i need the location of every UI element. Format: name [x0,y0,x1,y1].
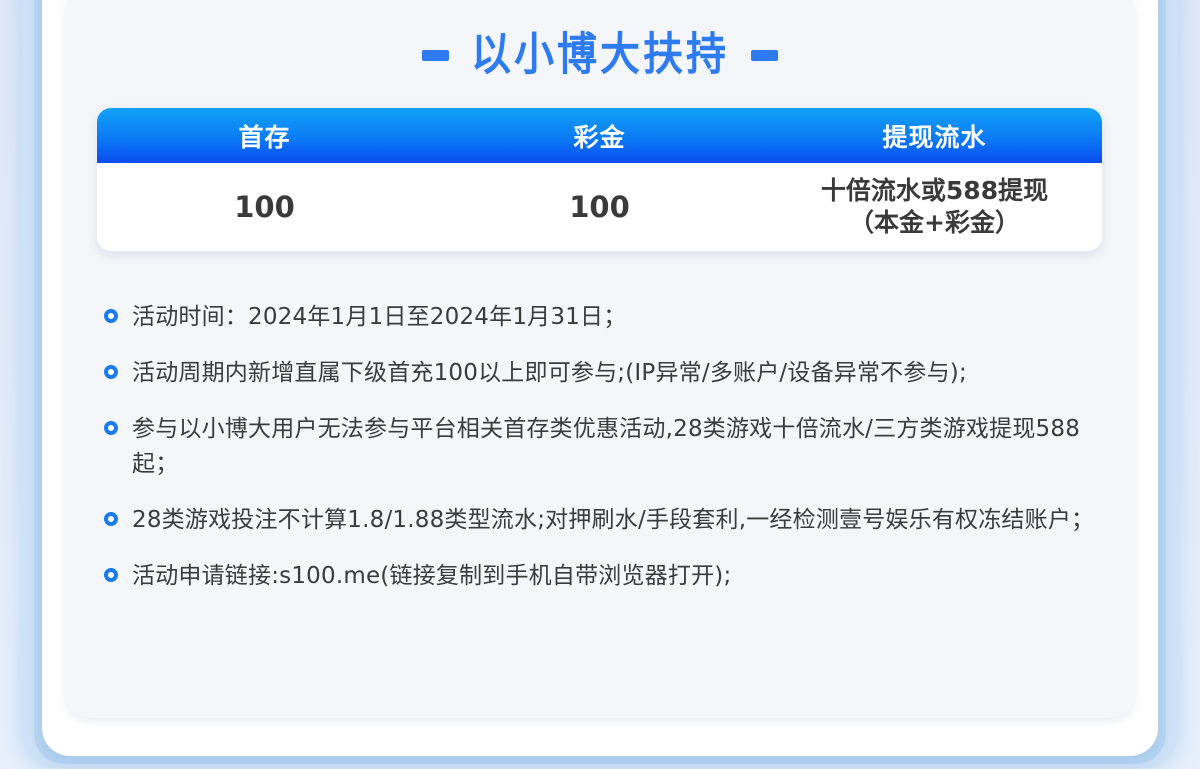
bullet-ring-icon [104,512,118,526]
column-header-bonus: 彩金 [432,108,767,163]
term-text: 28类游戏投注不计算1.8/1.88类型流水;对押刷水/手段套利,一经检测壹号娱… [132,503,1104,538]
title-text: 以小博大扶持 [471,33,729,78]
promo-card: 以小博大扶持 首存 彩金 提现流水 100 100 十倍流水或588提现 （本金… [66,0,1134,718]
term-text: 活动申请链接:s100.me(链接复制到手机自带浏览器打开); [132,559,1104,594]
cell-withdraw-line1: 十倍流水或588提现 [821,175,1048,207]
column-header-withdraw: 提现流水 [767,108,1102,163]
list-item: 28类游戏投注不计算1.8/1.88类型流水;对押刷水/手段套利,一经检测壹号娱… [104,503,1104,538]
list-item: 活动时间：2024年1月1日至2024年1月31日； [104,300,1104,335]
term-text: 活动周期内新增直属下级首充100以上即可参与;(IP异常/多账户/设备异常不参与… [132,356,1104,391]
cell-deposit: 100 [97,163,432,251]
term-text: 参与以小博大用户无法参与平台相关首存类优惠活动,28类游戏十倍流水/三方类游戏提… [132,412,1104,482]
term-text: 活动时间：2024年1月1日至2024年1月31日； [132,300,1104,335]
bullet-ring-icon [104,568,118,582]
column-header-deposit: 首存 [97,108,432,163]
table-header-row: 首存 彩金 提现流水 [97,108,1102,163]
table-row: 100 100 十倍流水或588提现 （本金+彩金） [97,163,1102,251]
bullet-ring-icon [104,421,118,435]
cell-withdraw-line2: （本金+彩金） [849,207,1020,239]
cell-bonus: 100 [432,163,767,251]
list-item: 活动申请链接:s100.me(链接复制到手机自带浏览器打开); [104,559,1104,594]
title-dash-left-icon [422,50,449,61]
list-item: 参与以小博大用户无法参与平台相关首存类优惠活动,28类游戏十倍流水/三方类游戏提… [104,412,1104,482]
list-item: 活动周期内新增直属下级首充100以上即可参与;(IP异常/多账户/设备异常不参与… [104,356,1104,391]
terms-list: 活动时间：2024年1月1日至2024年1月31日； 活动周期内新增直属下级首充… [104,300,1104,594]
bullet-ring-icon [104,365,118,379]
page-title: 以小博大扶持 [66,35,1134,75]
promo-page: 以小博大扶持 首存 彩金 提现流水 100 100 十倍流水或588提现 （本金… [0,0,1200,769]
bullet-ring-icon [104,309,118,323]
cell-withdraw: 十倍流水或588提现 （本金+彩金） [767,163,1102,251]
title-dash-right-icon [751,50,778,61]
reward-table: 首存 彩金 提现流水 100 100 十倍流水或588提现 （本金+彩金） [97,108,1102,251]
